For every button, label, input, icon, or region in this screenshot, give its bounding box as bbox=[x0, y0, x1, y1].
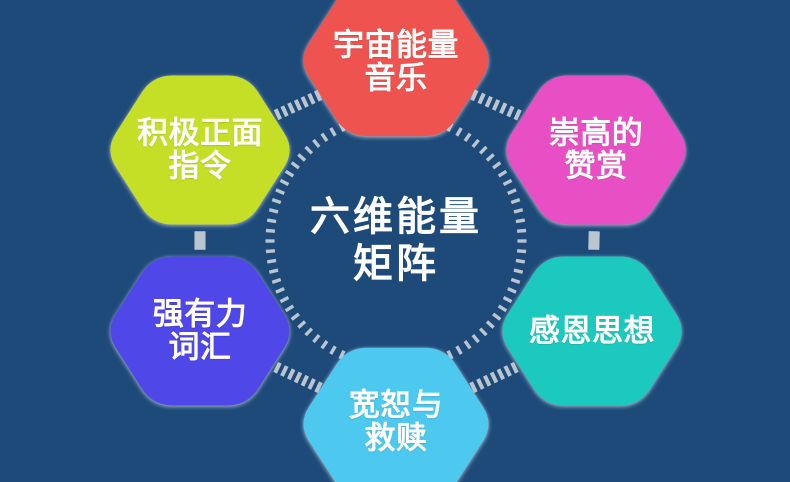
hexagon-forgiveness-redemption[interactable] bbox=[303, 348, 488, 482]
hexagon-gratitude-thinking[interactable] bbox=[502, 257, 681, 406]
hexagon-lofty-praise[interactable] bbox=[506, 76, 685, 225]
hexagon-cosmic-energy-music[interactable] bbox=[303, 0, 488, 136]
six-dimensional-energy-matrix-diagram: 六维能量 矩阵 宇宙能量 音乐 崇高的 赞赏 感恩思想 宽恕与 救赎 强有力 词… bbox=[0, 0, 790, 482]
hexagon-positive-instructions[interactable] bbox=[110, 76, 289, 225]
diagram-graphics bbox=[0, 0, 790, 482]
center-dashed-circle bbox=[266, 111, 527, 372]
hexagon-powerful-vocabulary[interactable] bbox=[110, 257, 289, 406]
